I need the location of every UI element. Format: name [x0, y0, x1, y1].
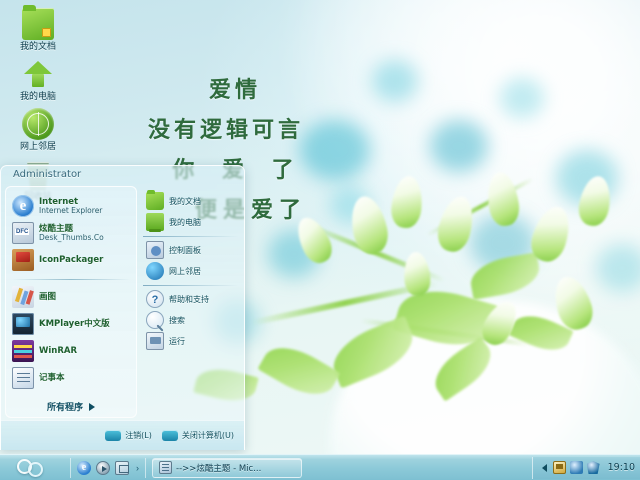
item-title: KMPlayer中文版 — [39, 320, 110, 329]
start-menu-item-winrar[interactable]: WinRAR — [8, 338, 134, 364]
item-subtitle: Desk_Thumbs.Co — [39, 234, 104, 242]
item-title: WinRAR — [39, 347, 77, 356]
desktop-icon-label: 我的文档 — [6, 42, 70, 53]
start-menu-item-kmplayer[interactable]: KMPlayer中文版 — [8, 311, 134, 337]
start-menu-body: Internet Internet Explorer 炫酷主题 Desk_Thu… — [1, 186, 244, 418]
start-menu-user: Administrator — [1, 166, 244, 186]
taskbar[interactable]: › -->>炫酷主题 - Mic... 19:10 — [0, 454, 640, 480]
item-title: IconPackager — [39, 256, 103, 265]
shut-down-button[interactable]: 关闭计算机(U) — [162, 430, 234, 441]
start-menu-separator — [12, 279, 130, 280]
start-button[interactable] — [2, 456, 66, 480]
home-icon — [22, 58, 54, 90]
quick-launch-overflow[interactable]: › — [134, 463, 139, 473]
show-desktop-icon[interactable] — [115, 461, 129, 475]
run-icon — [146, 332, 164, 350]
globe-icon — [22, 108, 54, 140]
network-icon[interactable] — [570, 461, 583, 474]
start-menu-place-my-documents[interactable]: 我的文档 — [143, 191, 240, 211]
iconpackager-icon — [12, 249, 34, 271]
kmplayer-icon — [12, 313, 34, 335]
winrar-icon — [12, 340, 34, 362]
notepad-icon — [12, 367, 34, 389]
item-title: 画图 — [39, 293, 56, 302]
start-menu-item-theme[interactable]: 炫酷主题 Desk_Thumbs.Co — [8, 220, 134, 246]
start-menu-programs-pane: Internet Internet Explorer 炫酷主题 Desk_Thu… — [5, 186, 137, 418]
item-title: 记事本 — [39, 374, 65, 383]
log-off-button[interactable]: 注销(L) — [105, 430, 152, 441]
place-label: 我的文档 — [169, 196, 201, 207]
system-tray[interactable]: 19:10 — [532, 457, 640, 479]
places-separator — [143, 236, 238, 237]
task-buttons: -->>炫酷主题 - Mic... — [146, 458, 532, 478]
start-menu-place-my-computer[interactable]: 我的电脑 — [143, 212, 240, 232]
place-label: 网上邻居 — [169, 266, 201, 277]
desktop-icon-my-documents[interactable]: 我的文档 — [6, 8, 70, 53]
start-menu-place-network[interactable]: 网上邻居 — [143, 261, 240, 281]
desktop-icon-my-computer[interactable]: 我的电脑 — [6, 58, 70, 103]
shut-down-icon — [162, 430, 178, 441]
chevron-right-icon — [89, 403, 95, 411]
my-documents-icon — [146, 192, 164, 210]
start-menu-place-control-panel[interactable]: 控制面板 — [143, 240, 240, 260]
document-icon — [159, 461, 172, 474]
place-label: 我的电脑 — [169, 217, 201, 228]
help-icon — [146, 290, 164, 308]
internet-explorer-icon — [12, 195, 34, 217]
start-menu-item-paint[interactable]: 画图 — [8, 284, 134, 310]
start-menu-footer: 注销(L) 关闭计算机(U) — [1, 420, 244, 450]
start-menu-place-run[interactable]: 运行 — [143, 331, 240, 351]
monitor-icon[interactable] — [553, 461, 566, 474]
start-menu[interactable]: Administrator Internet Internet Explorer… — [0, 165, 245, 450]
internet-explorer-icon[interactable] — [77, 461, 91, 475]
desktop-icon-label: 网上邻居 — [6, 142, 70, 153]
start-menu-places-pane: 我的文档 我的电脑 控制面板 网上邻居 帮助 — [137, 186, 240, 418]
media-player-icon[interactable] — [96, 461, 110, 475]
place-label: 运行 — [169, 336, 185, 347]
all-programs-button[interactable]: 所有程序 — [6, 400, 136, 413]
places-separator — [143, 285, 238, 286]
folder-icon — [22, 8, 54, 40]
clock[interactable]: 19:10 — [604, 462, 635, 473]
start-menu-item-notepad[interactable]: 记事本 — [8, 365, 134, 391]
desktop-icon-network-places[interactable]: 网上邻居 — [6, 108, 70, 153]
start-menu-place-help[interactable]: 帮助和支持 — [143, 289, 240, 309]
paint-icon — [12, 286, 34, 308]
user-name: Administrator — [13, 169, 81, 180]
place-label: 帮助和支持 — [169, 294, 209, 305]
chevron-left-icon[interactable] — [540, 461, 549, 474]
network-places-icon — [146, 262, 164, 280]
security-shield-icon[interactable] — [587, 461, 600, 474]
my-computer-icon — [146, 213, 164, 231]
place-label: 控制面板 — [169, 245, 201, 256]
start-menu-item-iconpackager[interactable]: IconPackager — [8, 247, 134, 273]
start-logo-icon — [17, 459, 51, 477]
place-label: 搜索 — [169, 315, 185, 326]
item-subtitle: Internet Explorer — [39, 207, 102, 215]
desktop[interactable]: 爱情 没有逻辑可言 你 爱 了 便是爱了 我的文档 我的电脑 网上邻居 回收站 … — [0, 0, 640, 480]
task-label: -->>炫酷主题 - Mic... — [176, 462, 261, 474]
theme-icon — [12, 222, 34, 244]
task-button[interactable]: -->>炫酷主题 - Mic... — [152, 458, 302, 478]
desktop-icon-label: 我的电脑 — [6, 92, 70, 103]
start-menu-item-internet-explorer[interactable]: Internet Internet Explorer — [8, 193, 134, 219]
control-panel-icon — [146, 241, 164, 259]
log-off-label: 注销(L) — [125, 430, 152, 441]
search-icon — [146, 311, 164, 329]
shut-down-label: 关闭计算机(U) — [182, 430, 234, 441]
log-off-icon — [105, 430, 121, 441]
start-menu-place-search[interactable]: 搜索 — [143, 310, 240, 330]
quick-launch-bar[interactable]: › — [70, 458, 146, 478]
all-programs-label: 所有程序 — [47, 400, 83, 413]
